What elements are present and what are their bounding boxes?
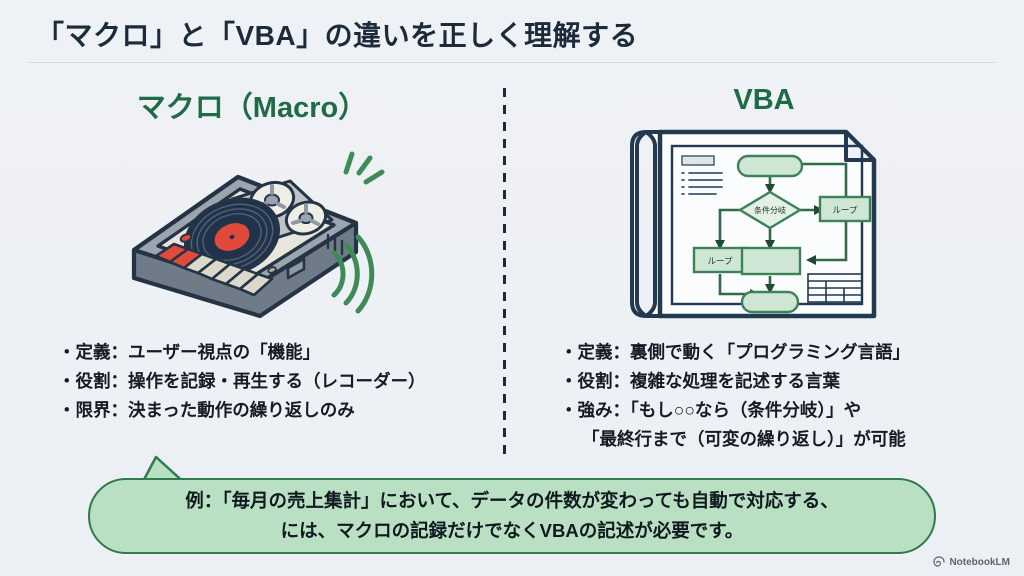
bullet-item: ・限界：決まった動作の繰り返しのみ xyxy=(58,396,488,425)
blueprint-svg: 条件分岐 ループ ループ xyxy=(624,124,890,324)
notebooklm-logo-icon xyxy=(933,556,945,568)
flowchart-decision-label: 条件分岐 xyxy=(754,205,786,215)
notebooklm-watermark-label: NotebookLM xyxy=(949,557,1010,568)
notebooklm-watermark: NotebookLM xyxy=(933,556,1010,568)
bullet-item: ・定義：裏側で動く「プログラミング言語」 xyxy=(560,338,1010,367)
center-dashed-divider xyxy=(503,88,506,462)
bullet-item: ・強み：「もし○○なら（条件分岐）」や xyxy=(560,396,1010,425)
tape-recorder-svg xyxy=(120,128,400,323)
tape-recorder-illustration xyxy=(120,128,400,323)
title-divider-rule xyxy=(28,62,996,63)
callout-line-2: には、マクロの記録だけでなくVBAの記述が必要です。 xyxy=(281,516,744,546)
column-heading-macro: マクロ（Macro） xyxy=(0,84,504,126)
bullet-item: ・定義：ユーザー視点の「機能」 xyxy=(58,338,488,367)
sparkle-lines-icon xyxy=(346,154,382,182)
bullet-item-continuation: 「最終行まで（可変の繰り返し）」が可能 xyxy=(560,425,1010,454)
callout-line-1: 例：「毎月の売上集計」において、データの件数が変わっても自動で対応する、 xyxy=(185,486,838,516)
bullet-item: ・役割：操作を記録・再生する（レコーダー） xyxy=(58,367,488,396)
slide-canvas: 「マクロ」と「VBA」の違いを正しく理解する マクロ（Macro） VBA xyxy=(0,0,1024,576)
column-heading-vba: VBA xyxy=(504,84,1024,117)
callout-box: 例：「毎月の売上集計」において、データの件数が変わっても自動で対応する、 には、… xyxy=(88,478,936,554)
bullet-item: ・役割：複雑な処理を記述する言葉 xyxy=(560,367,1010,396)
blueprint-flowchart-illustration: 条件分岐 ループ ループ xyxy=(624,124,890,324)
bullet-list-macro: ・定義：ユーザー視点の「機能」 ・役割：操作を記録・再生する（レコーダー） ・限… xyxy=(58,338,488,425)
bullet-list-vba: ・定義：裏側で動く「プログラミング言語」 ・役割：複雑な処理を記述する言葉 ・強… xyxy=(560,338,1010,454)
flowchart-loop-label-left: ループ xyxy=(708,257,733,267)
page-title: 「マクロ」と「VBA」の違いを正しく理解する xyxy=(36,14,638,54)
flowchart-loop-label-right: ループ xyxy=(833,206,858,216)
